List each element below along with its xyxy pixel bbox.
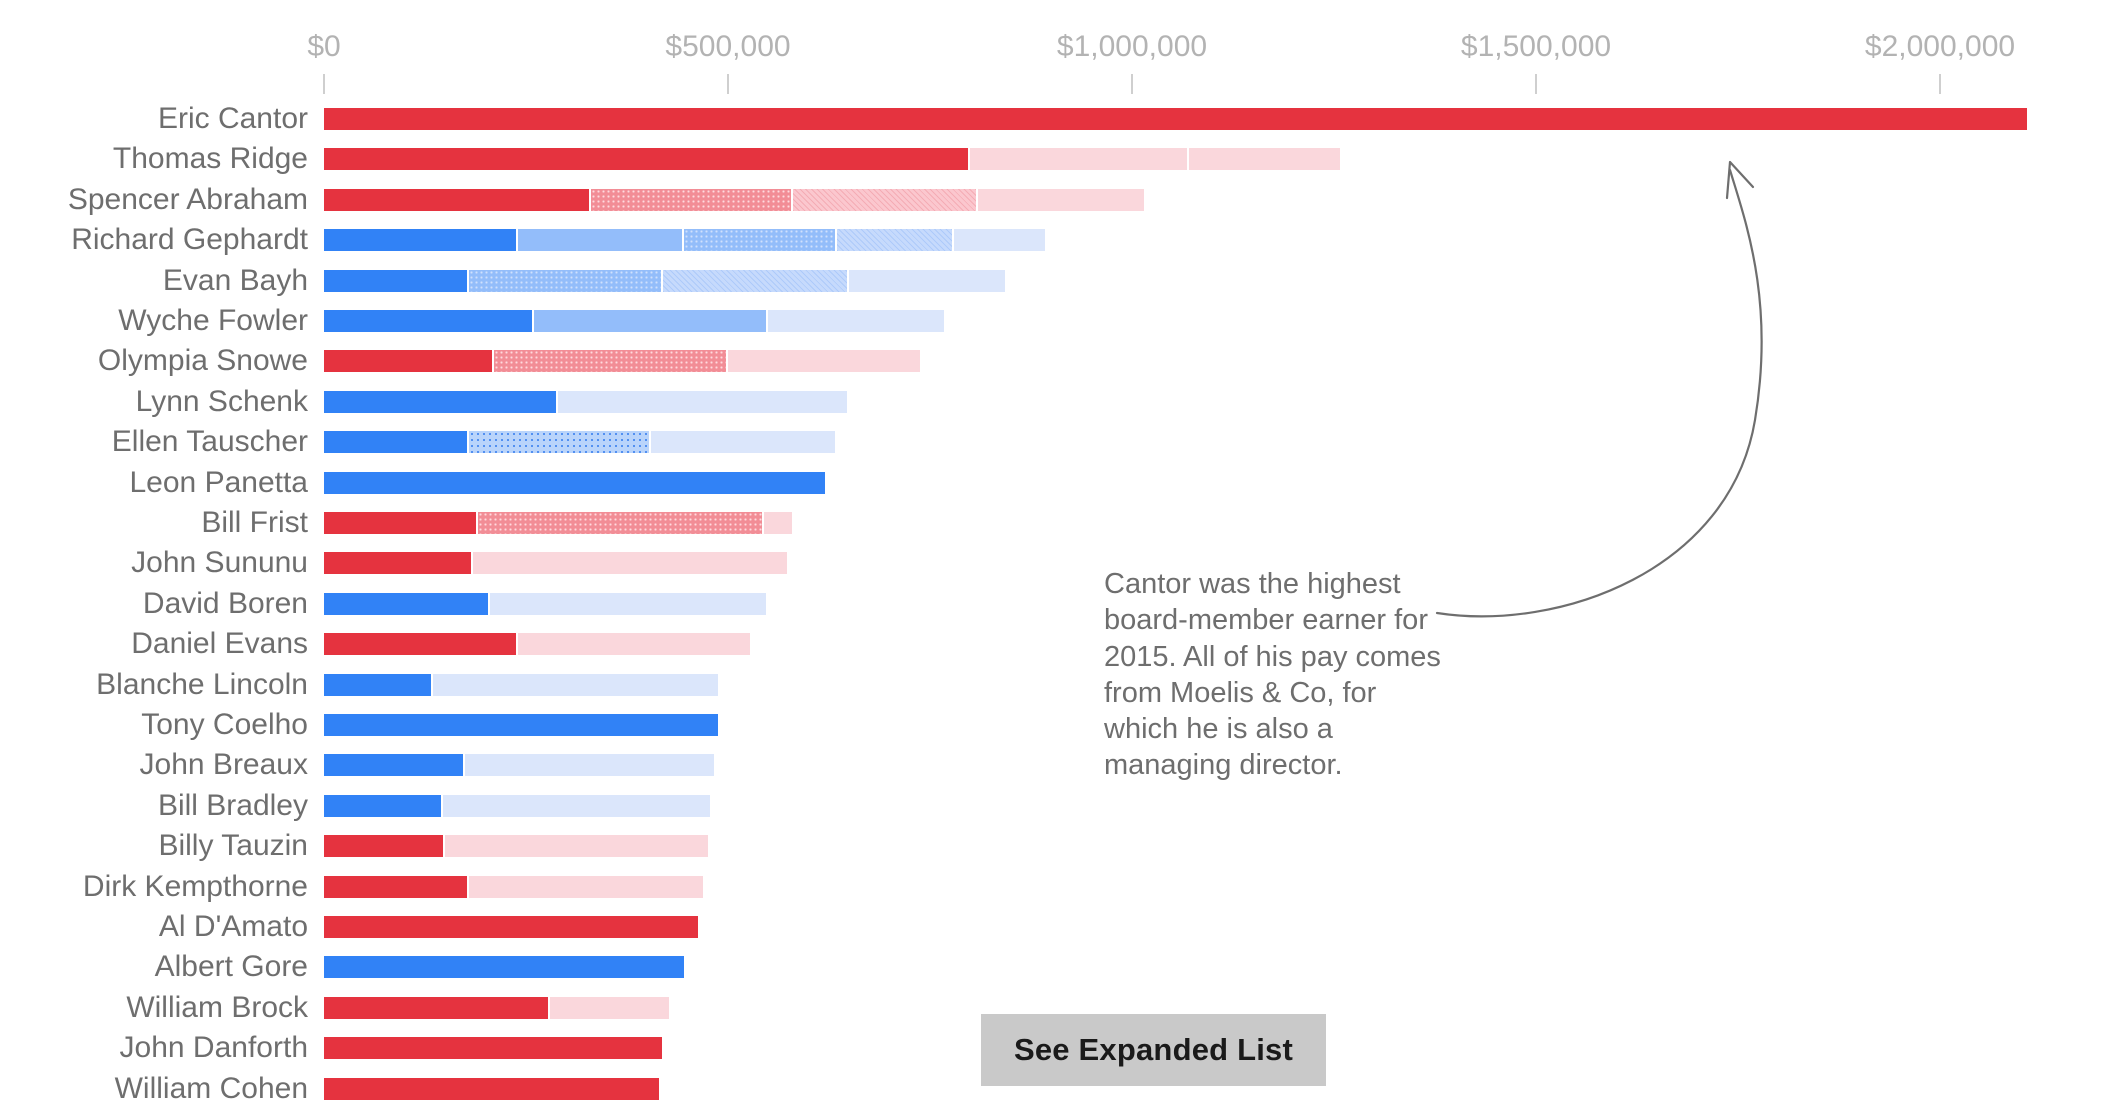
bar-row-label: David Boren (143, 589, 308, 619)
bar-segment[interactable] (469, 431, 649, 453)
bar-row[interactable]: Billy Tauzin (0, 831, 2126, 861)
bar-row-label: John Sununu (131, 548, 308, 578)
bar-row-label: Billy Tauzin (158, 831, 308, 861)
bar-row[interactable]: Thomas Ridge (0, 144, 2126, 174)
bar-row[interactable]: Tony Coelho (0, 710, 2126, 740)
bar-segment[interactable] (324, 431, 467, 453)
bar-segment[interactable] (663, 270, 847, 292)
bar[interactable] (324, 270, 1007, 292)
chart-annotation: Cantor was the highest board-member earn… (1104, 566, 1444, 784)
bar-segment[interactable] (324, 997, 548, 1019)
bar[interactable] (324, 108, 2029, 130)
bar-segment[interactable] (837, 229, 952, 251)
bar-segment[interactable] (324, 512, 476, 534)
bar-segment[interactable] (324, 552, 471, 574)
bar[interactable] (324, 633, 752, 655)
bar-row[interactable]: John Breaux (0, 750, 2126, 780)
see-expanded-list-button[interactable]: See Expanded List (981, 1014, 1326, 1086)
bar-segment[interactable] (978, 189, 1143, 211)
bar-row[interactable]: Olympia Snowe (0, 346, 2126, 376)
bar[interactable] (324, 754, 716, 776)
bar-segment[interactable] (324, 956, 684, 978)
bar-segment[interactable] (324, 229, 516, 251)
bar-row[interactable]: Leon Panetta (0, 468, 2126, 498)
bar-row-label: William Brock (126, 993, 308, 1023)
bar-segment[interactable] (324, 472, 825, 494)
bar-row[interactable]: Evan Bayh (0, 266, 2126, 296)
bar[interactable] (324, 714, 720, 736)
bar[interactable] (324, 189, 1146, 211)
bar[interactable] (324, 956, 686, 978)
bar[interactable] (324, 512, 794, 534)
bar-row[interactable]: Richard Gephardt (0, 225, 2126, 255)
bar-segment[interactable] (465, 754, 713, 776)
bar-segment[interactable] (534, 310, 766, 332)
bar-segment[interactable] (324, 148, 968, 170)
bar-row[interactable]: Blanche Lincoln (0, 670, 2126, 700)
bar-row[interactable]: Lynn Schenk (0, 387, 2126, 417)
bar-row-label: Eric Cantor (158, 104, 308, 134)
bar[interactable] (324, 593, 768, 615)
bar-row-label: Richard Gephardt (71, 225, 308, 255)
bar-row[interactable]: Bill Frist (0, 508, 2126, 538)
bar-segment[interactable] (324, 1078, 659, 1100)
bar-row-label: Lynn Schenk (136, 387, 308, 417)
bar-segment[interactable] (518, 229, 682, 251)
bar-row-label: Bill Bradley (158, 791, 308, 821)
bar[interactable] (324, 876, 705, 898)
bar-segment[interactable] (324, 593, 488, 615)
bar-segment[interactable] (324, 674, 431, 696)
bar-segment[interactable] (478, 512, 763, 534)
bar-segment[interactable] (954, 229, 1045, 251)
bar-row-label: Wyche Fowler (118, 306, 308, 336)
bar[interactable] (324, 1037, 664, 1059)
bar[interactable] (324, 835, 710, 857)
bar-row-label: William Cohen (115, 1074, 308, 1104)
bar-chart: $0$500,000$1,000,000$1,500,000$2,000,000… (0, 0, 2126, 1118)
bar-row-label: Albert Gore (155, 952, 308, 982)
bar-segment[interactable] (324, 714, 718, 736)
bar-row-label: John Breaux (140, 750, 308, 780)
bar-segment[interactable] (684, 229, 836, 251)
bar-row[interactable]: Spencer Abraham (0, 185, 2126, 215)
bar-row-label: Al D'Amato (159, 912, 308, 942)
bar-segment[interactable] (1189, 148, 1341, 170)
bar[interactable] (324, 350, 922, 372)
bar-segment[interactable] (764, 512, 792, 534)
bar[interactable] (324, 229, 1047, 251)
bar-row[interactable]: Bill Bradley (0, 791, 2126, 821)
bar-segment[interactable] (651, 431, 835, 453)
bar-row[interactable]: Albert Gore (0, 952, 2126, 982)
bar-segment[interactable] (324, 310, 532, 332)
bar[interactable] (324, 674, 720, 696)
bar-row[interactable]: David Boren (0, 589, 2126, 619)
bar-segment[interactable] (324, 270, 467, 292)
bar[interactable] (324, 431, 837, 453)
bar-row-label: Daniel Evans (131, 629, 308, 659)
bar[interactable] (324, 997, 671, 1019)
bar[interactable] (324, 148, 1342, 170)
bar-row-label: Bill Frist (201, 508, 308, 538)
bar-segment[interactable] (324, 391, 556, 413)
bar-row-label: Spencer Abraham (68, 185, 308, 215)
bar-segment[interactable] (324, 876, 467, 898)
bar-row-label: Ellen Tauscher (112, 427, 308, 457)
bar-row[interactable]: Dirk Kempthorne (0, 872, 2126, 902)
bar-segment[interactable] (490, 593, 767, 615)
bar-row-label: Thomas Ridge (113, 144, 308, 174)
bar-rows: Eric CantorThomas RidgeSpencer AbrahamRi… (0, 0, 2126, 1118)
bar-row-label: Evan Bayh (163, 266, 308, 296)
bar-segment[interactable] (518, 633, 750, 655)
bar-row-label: Leon Panetta (130, 468, 309, 498)
bar-segment[interactable] (728, 350, 920, 372)
bar-segment[interactable] (591, 189, 791, 211)
bar-row[interactable]: Daniel Evans (0, 629, 2126, 659)
bar-segment[interactable] (849, 270, 1005, 292)
bar[interactable] (324, 472, 827, 494)
bar-segment[interactable] (793, 189, 977, 211)
bar[interactable] (324, 795, 712, 817)
bar[interactable] (324, 552, 789, 574)
bar-segment[interactable] (550, 997, 669, 1019)
bar-segment[interactable] (324, 633, 516, 655)
bar-row[interactable]: Ellen Tauscher (0, 427, 2126, 457)
bar-segment[interactable] (494, 350, 726, 372)
bar-row[interactable]: John Sununu (0, 548, 2126, 578)
bar-segment[interactable] (558, 391, 847, 413)
bar-row-label: Olympia Snowe (98, 346, 308, 376)
bar-segment[interactable] (324, 350, 492, 372)
bar-row-label: Blanche Lincoln (96, 670, 308, 700)
bar-segment[interactable] (443, 795, 710, 817)
bar-segment[interactable] (473, 552, 786, 574)
bar-segment[interactable] (324, 1037, 662, 1059)
bar-row[interactable]: Al D'Amato (0, 912, 2126, 942)
bar[interactable] (324, 1078, 661, 1100)
bar-segment[interactable] (768, 310, 944, 332)
bar-row[interactable]: Eric Cantor (0, 104, 2126, 134)
bar-segment[interactable] (433, 674, 718, 696)
bar-segment[interactable] (324, 189, 589, 211)
bar-segment[interactable] (469, 270, 661, 292)
bar-segment[interactable] (324, 108, 2027, 130)
bar-segment[interactable] (970, 148, 1186, 170)
bar-segment[interactable] (469, 876, 703, 898)
bar[interactable] (324, 391, 849, 413)
bar-segment[interactable] (324, 754, 463, 776)
bar-row-label: Dirk Kempthorne (83, 872, 308, 902)
bar-row[interactable]: Wyche Fowler (0, 306, 2126, 336)
bar-segment[interactable] (324, 916, 698, 938)
bar-segment[interactable] (324, 795, 441, 817)
bar-row-label: John Danforth (120, 1033, 308, 1063)
bar-row-label: Tony Coelho (141, 710, 308, 740)
bar-segment[interactable] (445, 835, 708, 857)
bar[interactable] (324, 916, 700, 938)
bar[interactable] (324, 310, 946, 332)
bar-segment[interactable] (324, 835, 443, 857)
